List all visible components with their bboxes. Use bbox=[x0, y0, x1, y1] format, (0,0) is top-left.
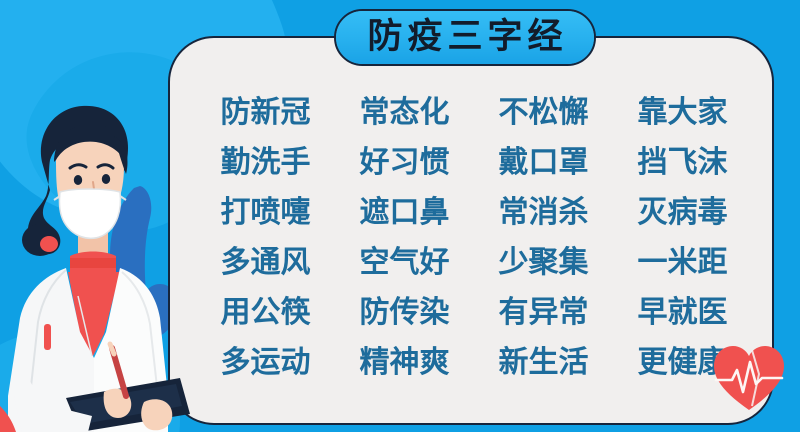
verse-cell: 精神爽 bbox=[335, 338, 474, 388]
verse-cell: 不松懈 bbox=[474, 88, 613, 138]
heart-icon bbox=[712, 344, 786, 414]
verse-cell: 好习惯 bbox=[335, 138, 474, 188]
verse-cell: 靠大家 bbox=[613, 88, 752, 138]
verse-cell: 戴口罩 bbox=[474, 138, 613, 188]
verse-cell: 防传染 bbox=[335, 288, 474, 338]
verse-cell: 挡飞沫 bbox=[613, 138, 752, 188]
verse-cell: 少聚集 bbox=[474, 238, 613, 288]
verse-cell: 多通风 bbox=[196, 238, 335, 288]
doctor-illustration bbox=[0, 96, 190, 432]
verse-cell: 空气好 bbox=[335, 238, 474, 288]
verse-cell: 早就医 bbox=[613, 288, 752, 338]
verse-cell: 遮口鼻 bbox=[335, 188, 474, 238]
verse-cell: 防新冠 bbox=[196, 88, 335, 138]
verse-grid: 防新冠 常态化 不松懈 靠大家 勤洗手 好习惯 戴口罩 挡飞沫 打喷嚏 遮口鼻 … bbox=[196, 88, 752, 388]
verse-cell: 有异常 bbox=[474, 288, 613, 338]
verse-cell: 勤洗手 bbox=[196, 138, 335, 188]
poster-title-banner: 防疫三字经 bbox=[334, 9, 596, 66]
page-title: 防疫三字经 bbox=[362, 20, 567, 55]
verse-cell: 灭病毒 bbox=[613, 188, 752, 238]
verse-cell: 多运动 bbox=[196, 338, 335, 388]
verse-cell: 一米距 bbox=[613, 238, 752, 288]
verse-cell: 新生活 bbox=[474, 338, 613, 388]
verse-cell: 常态化 bbox=[335, 88, 474, 138]
verse-cell: 用公筷 bbox=[196, 288, 335, 338]
verse-cell: 打喷嚏 bbox=[196, 188, 335, 238]
poster-canvas: 防疫三字经 防新冠 常态化 不松懈 靠大家 勤洗手 好习惯 戴口罩 挡飞沫 打喷… bbox=[0, 0, 800, 432]
verse-cell: 常消杀 bbox=[474, 188, 613, 238]
